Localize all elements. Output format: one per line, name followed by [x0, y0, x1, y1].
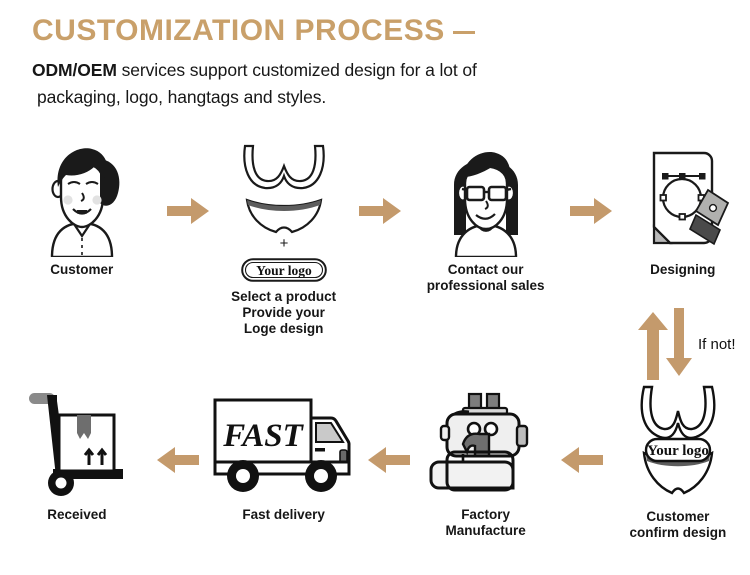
svg-text:Your logo: Your logo: [256, 263, 312, 278]
delivery-truck-icon: FAST: [209, 383, 359, 503]
header: CUSTOMIZATION PROCESS ODM/OEM services s…: [32, 14, 722, 111]
step-caption: Customer: [50, 262, 113, 278]
hand-truck-box-icon: [23, 383, 131, 503]
step-caption: Received: [47, 507, 106, 523]
arrow-left-1: [154, 383, 202, 553]
svg-text:Your logo: Your logo: [647, 443, 709, 459]
step-confirm-design[interactable]: Your logo Customer confirm design: [606, 383, 750, 553]
lingerie-with-logo-icon: +: [229, 138, 339, 266]
step-fast-delivery[interactable]: FAST Fast delivery: [202, 383, 365, 553]
step-select-product[interactable]: + Your logo Select a product Provide you…: [212, 138, 356, 308]
subtitle: ODM/OEM services support customized desi…: [32, 57, 722, 111]
subtitle-bold: ODM/OEM: [32, 60, 117, 80]
process-row-bottom: Received FAST: [0, 383, 750, 553]
sales-agent-avatar-icon: [434, 138, 538, 258]
title-dash-icon: [453, 31, 475, 34]
arrow-up-icon: [638, 312, 668, 380]
subtitle-line-2: packaging, logo, hangtags and styles.: [32, 84, 722, 111]
step-caption: Factory Manufacture: [445, 507, 525, 539]
sewing-machine-icon: [427, 383, 545, 503]
step-designing[interactable]: Designing: [615, 138, 750, 308]
design-document-pen-icon: [636, 138, 730, 258]
page-title-text: CUSTOMIZATION PROCESS: [32, 14, 445, 47]
customization-process-infographic: CUSTOMIZATION PROCESS ODM/OEM services s…: [0, 0, 750, 575]
step-caption: Contact our professional sales: [427, 262, 545, 294]
arrow-left-3: [558, 383, 606, 553]
lingerie-logo-badge-icon: Your logo: [620, 383, 736, 505]
arrow-left-2: [365, 383, 413, 553]
arrow-down-icon: [666, 308, 692, 376]
connector-arrows: [636, 308, 692, 380]
step-factory-manufacture[interactable]: Factory Manufacture: [413, 383, 557, 553]
step-caption: Customer confirm design: [630, 509, 727, 541]
step-caption: Designing: [650, 262, 715, 278]
customer-avatar-icon: [32, 138, 132, 258]
subtitle-line-1: services support customized design for a…: [117, 60, 477, 80]
step-customer[interactable]: Customer: [0, 138, 163, 308]
step-caption: Select a product Provide your Loge desig…: [231, 289, 336, 337]
if-not-connector: If not!: [636, 305, 750, 383]
step-caption: Fast delivery: [242, 507, 325, 523]
arrow-right-2: [356, 138, 404, 308]
page-title: CUSTOMIZATION PROCESS: [32, 14, 722, 47]
if-not-label: If not!: [698, 336, 736, 353]
process-row-top: Customer +: [0, 138, 750, 308]
arrow-right-1: [163, 138, 211, 308]
step-received[interactable]: Received: [0, 383, 154, 553]
svg-text:FAST: FAST: [222, 418, 304, 454]
your-logo-badge: Your logo: [241, 258, 327, 287]
step-contact-sales[interactable]: Contact our professional sales: [404, 138, 567, 308]
svg-text:+: +: [279, 235, 288, 252]
arrow-right-3: [567, 138, 615, 308]
